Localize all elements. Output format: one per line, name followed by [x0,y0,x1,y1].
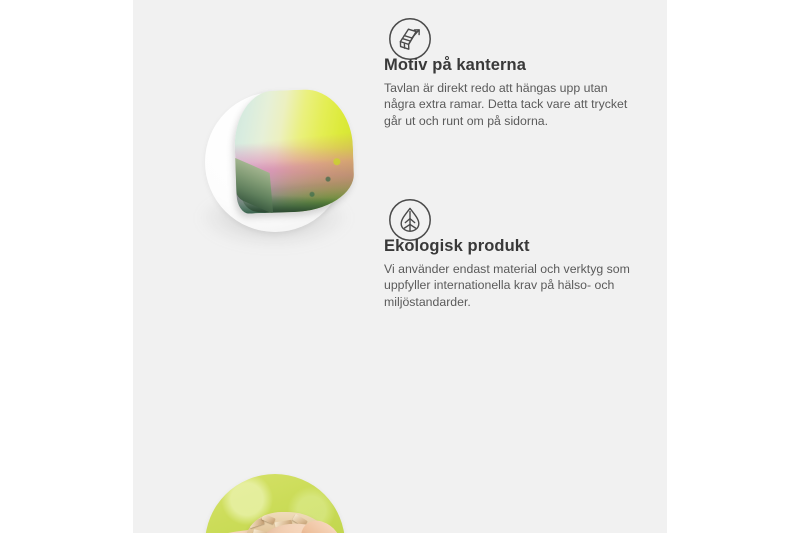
feature-title-eco: Ekologisk produkt [384,237,530,256]
feature-block-eco: Ekologisk produkt Vi använder endast mat… [133,191,667,431]
grass-background [205,474,345,533]
feature-title-edges: Motiv på kanterna [384,56,526,75]
hands-with-wood-chips-photo [205,474,345,533]
content-panel: Motiv på kanterna Tavlan är direkt redo … [133,0,667,533]
page-root: Motiv på kanterna Tavlan är direkt redo … [0,0,800,533]
feature-description-edges: Tavlan är direkt redo att hängas upp uta… [384,80,634,129]
canvas-wrapped-edge-icon [388,17,432,61]
feature-description-eco: Vi använder endast material och verktyg … [384,261,634,310]
leaf-icon [388,198,432,242]
